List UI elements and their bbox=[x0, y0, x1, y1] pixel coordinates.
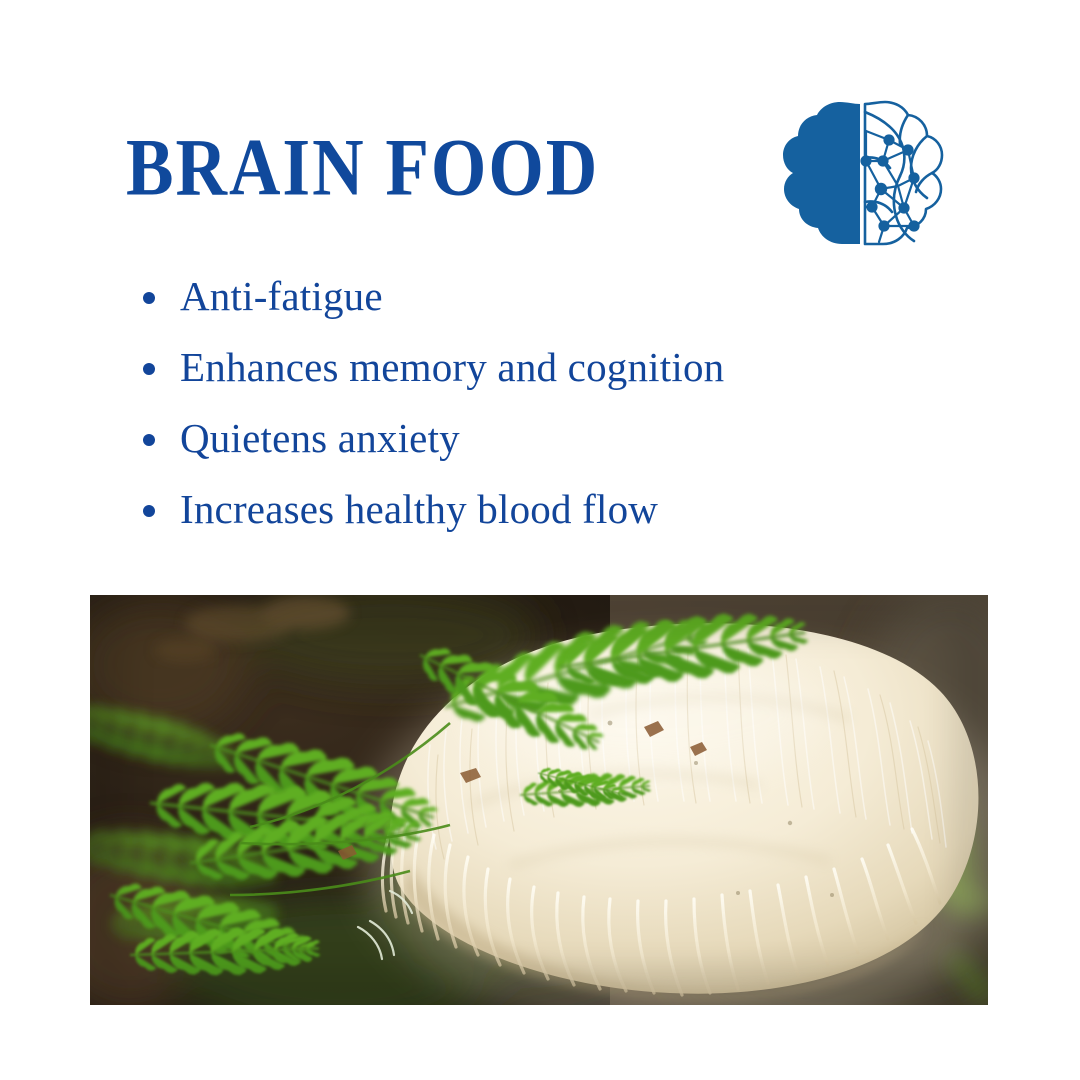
poster-canvas: BRAIN FOOD bbox=[0, 0, 1080, 1080]
list-item: Increases healthy blood flow bbox=[140, 477, 1020, 548]
lions-mane-mushroom-photo bbox=[90, 595, 988, 1005]
bullet-icon bbox=[143, 292, 155, 304]
benefits-list: Anti-fatigue Enhances memory and cogniti… bbox=[140, 264, 1020, 548]
list-item-label: Quietens anxiety bbox=[180, 406, 460, 470]
list-item: Anti-fatigue bbox=[140, 264, 1020, 335]
list-item-label: Increases healthy blood flow bbox=[180, 477, 658, 541]
brain-network-nodes bbox=[860, 134, 919, 231]
list-item-label: Anti-fatigue bbox=[180, 264, 383, 328]
brain-right-hemisphere-network bbox=[865, 102, 942, 244]
page-title: BRAIN FOOD bbox=[126, 126, 599, 208]
list-item-label: Enhances memory and cognition bbox=[180, 335, 724, 399]
list-item: Enhances memory and cognition bbox=[140, 335, 1020, 406]
bullet-icon bbox=[143, 363, 155, 375]
brain-left-hemisphere-solid bbox=[783, 102, 860, 244]
bullet-icon bbox=[143, 434, 155, 446]
bullet-icon bbox=[143, 505, 155, 517]
brain-network-icon bbox=[780, 98, 945, 250]
list-item: Quietens anxiety bbox=[140, 406, 1020, 477]
header: BRAIN FOOD bbox=[0, 0, 1080, 280]
